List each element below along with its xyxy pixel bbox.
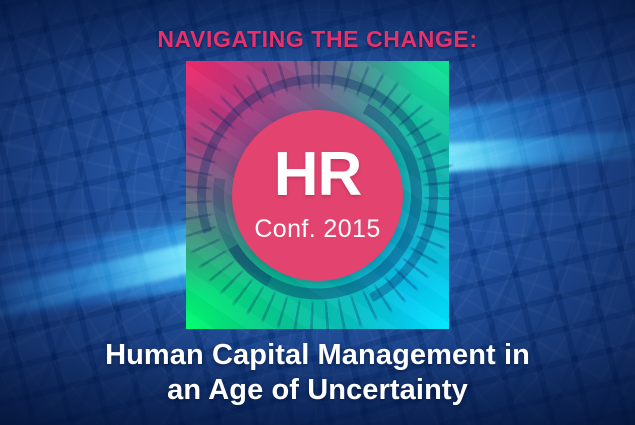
logo-mark-text: HR bbox=[274, 144, 362, 206]
page-title-line-2: an Age of Uncertainty bbox=[0, 373, 635, 408]
logo-circle-badge: HR Conf. 2015 bbox=[232, 110, 403, 281]
page-title: Human Capital Management in an Age of Un… bbox=[0, 338, 635, 409]
logo-subtitle-text: Conf. 2015 bbox=[254, 217, 380, 242]
logo-tile: HR Conf. 2015 bbox=[186, 61, 449, 329]
page-title-line-1: Human Capital Management in bbox=[105, 339, 530, 371]
conference-banner: NAVIGATING THE CHANGE: HR Conf. 2015 Hum… bbox=[0, 0, 635, 425]
